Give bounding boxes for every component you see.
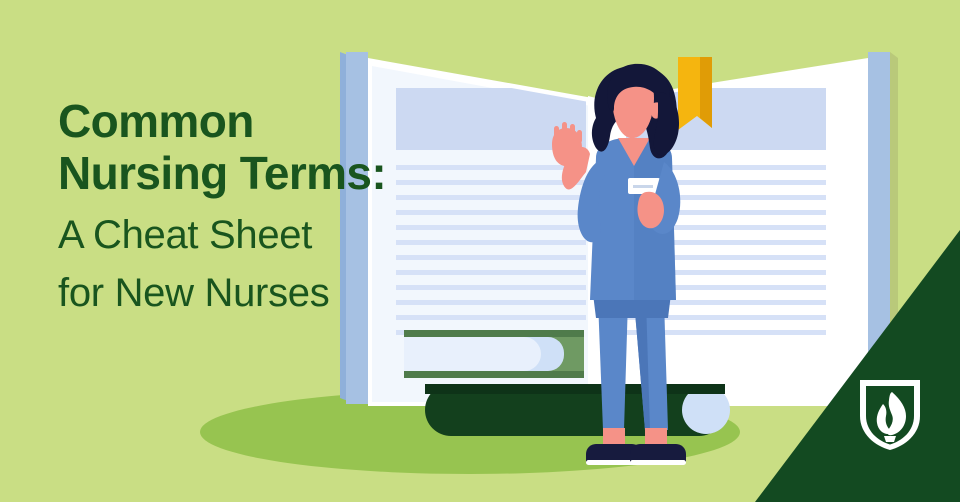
rasmussen-university-shield-logo[interactable] [857,376,923,452]
corner-accent-wedge [755,230,960,502]
nurse-shoes [586,444,686,465]
nurse-leg-left [598,300,628,430]
torch-cup [884,436,896,442]
book-stack-middle [404,330,584,378]
book-cover-left-face [346,52,368,404]
book-stack-bottom [425,384,730,436]
blog-banner: Common Nursing Terms: A Cheat Sheet for … [0,0,960,502]
